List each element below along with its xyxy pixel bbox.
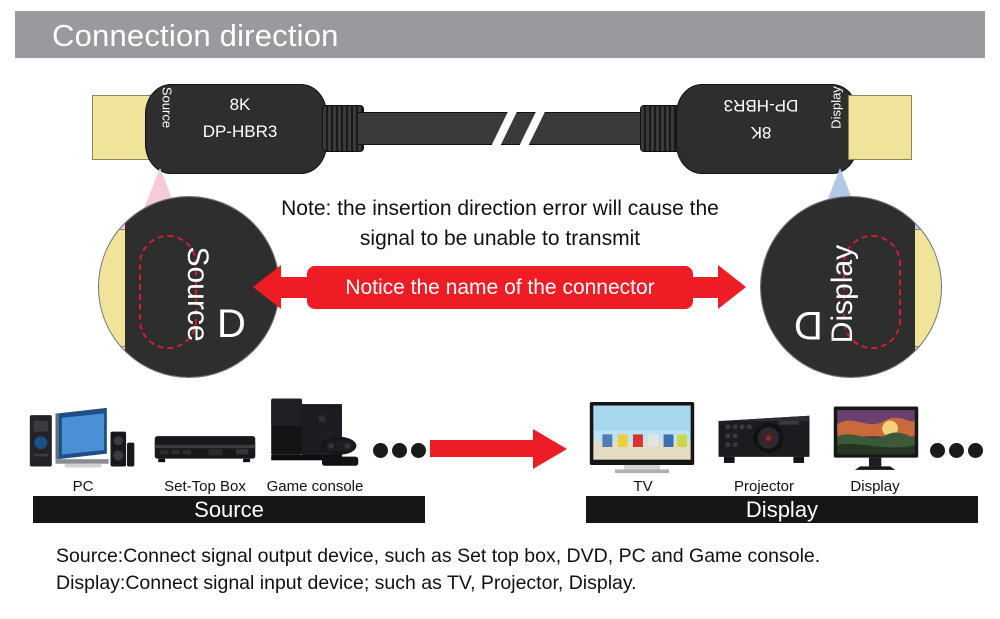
page-title: Connection direction bbox=[52, 18, 752, 54]
banner-arrow-right-stem bbox=[688, 277, 720, 298]
left-highlight-text: Source bbox=[180, 234, 214, 354]
source-group-bar: Source bbox=[33, 496, 425, 523]
device-label-display: Display bbox=[828, 478, 922, 495]
caption-block: Source:Connect signal output device, suc… bbox=[56, 543, 966, 597]
left-connector-spec-line1: 8K bbox=[185, 95, 295, 115]
banner-arrow-right-icon bbox=[718, 265, 746, 309]
device-label-set-top-box: Set-Top Box bbox=[150, 478, 260, 495]
game-console-icon bbox=[262, 395, 362, 473]
note-line-2: signal to be unable to transmit bbox=[255, 224, 745, 254]
display-group-label: Display bbox=[746, 497, 818, 523]
left-magnifier-content: Source D bbox=[99, 197, 279, 377]
display-ellipsis-dot-3 bbox=[968, 443, 983, 458]
right-highlight-text: Display bbox=[826, 234, 860, 354]
device-label-tv: TV bbox=[608, 478, 678, 495]
source-ellipsis-dot-1 bbox=[373, 443, 388, 458]
left-connector-spec-line2: DP-HBR3 bbox=[185, 122, 295, 142]
right-connector-side-label: Display bbox=[829, 78, 844, 138]
right-gold-plug bbox=[848, 95, 912, 160]
right-magnifier-content: Display D bbox=[761, 197, 941, 377]
flow-arrow-stem bbox=[430, 440, 535, 457]
source-group-label: Source bbox=[194, 497, 264, 523]
television-icon bbox=[588, 400, 696, 476]
right-connector-spec-line1: 8K bbox=[706, 122, 816, 142]
source-ellipsis-dot-2 bbox=[392, 443, 407, 458]
left-partial-label: D bbox=[217, 302, 246, 347]
desktop-computer-icon bbox=[28, 400, 138, 478]
source-ellipsis-dot-3 bbox=[411, 443, 426, 458]
note-block: Note: the insertion direction error will… bbox=[255, 194, 745, 254]
projector-icon bbox=[715, 408, 813, 468]
display-ellipsis-dot-2 bbox=[949, 443, 964, 458]
display-group-bar: Display bbox=[586, 496, 978, 523]
notice-banner: Notice the name of the connector bbox=[307, 266, 693, 309]
display-ellipsis-dot-1 bbox=[930, 443, 945, 458]
right-connector-spec-line2: DP-HBR3 bbox=[706, 95, 816, 115]
device-label-projector: Projector bbox=[712, 478, 816, 495]
set-top-box-icon bbox=[153, 432, 257, 468]
note-line-1: Note: the insertion direction error will… bbox=[255, 194, 745, 224]
caption-line-2: Display:Connect signal input device; suc… bbox=[56, 570, 966, 597]
device-label-pc: PC bbox=[48, 478, 118, 495]
left-connector-side-label: Source bbox=[160, 78, 175, 138]
monitor-icon bbox=[832, 404, 920, 476]
caption-line-1: Source:Connect signal output device, suc… bbox=[56, 543, 966, 570]
device-label-game-console: Game console bbox=[255, 478, 375, 495]
notice-banner-text: Notice the name of the connector bbox=[345, 276, 654, 300]
right-magnifier-circle: Display D bbox=[760, 196, 942, 378]
right-partial-label: D bbox=[794, 302, 823, 347]
arrow-right-icon bbox=[533, 429, 567, 469]
banner-arrow-left-icon bbox=[253, 265, 281, 309]
